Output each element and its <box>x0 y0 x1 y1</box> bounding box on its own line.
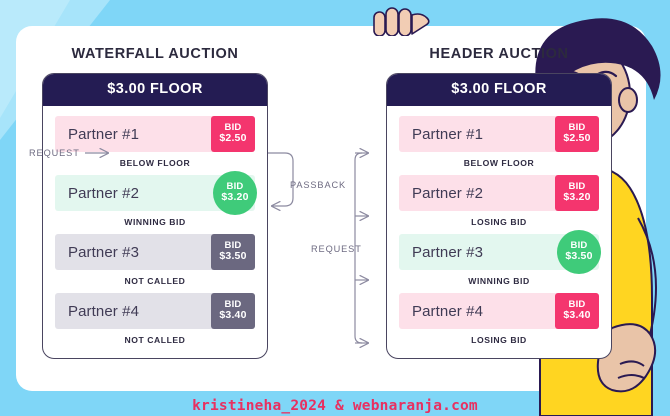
waterfall-auction-panel: WATERFALL AUCTION $3.00 FLOOR Partner #1… <box>42 46 268 359</box>
partner-name: Partner #4 <box>55 303 139 320</box>
bid-badge-amount: $3.40 <box>563 310 590 322</box>
header-floor-bar: $3.00 FLOOR <box>386 73 612 106</box>
bid-badge[interactable]: BID$3.20 <box>213 171 257 215</box>
partner-row[interactable]: Partner #3BID$3.50 <box>399 234 599 270</box>
partner-row[interactable]: Partner #4BID$3.40 <box>55 293 255 329</box>
bid-badge[interactable]: BID$3.50 <box>557 230 601 274</box>
partner-entry: Partner #3BID$3.50NOT CALLED <box>55 234 255 293</box>
partner-status-label: NOT CALLED <box>55 270 255 293</box>
partner-entry: Partner #1BID$2.50BELOW FLOOR <box>55 116 255 175</box>
watermark: kristineha_2024 & webnaranja.com <box>0 398 670 414</box>
partner-status-label: BELOW FLOOR <box>399 152 599 175</box>
partner-entry: Partner #1BID$2.50BELOW FLOOR <box>399 116 599 175</box>
header-auction-panel: HEADER AUCTION $3.00 FLOOR Partner #1BID… <box>386 46 612 359</box>
partner-name: Partner #3 <box>55 244 139 261</box>
header-rows: Partner #1BID$2.50BELOW FLOORPartner #2B… <box>387 106 611 358</box>
partner-row[interactable]: Partner #3BID$3.50 <box>55 234 255 270</box>
partner-status-label: WINNING BID <box>55 211 255 234</box>
bid-badge[interactable]: BID$3.40 <box>555 293 599 329</box>
partner-row[interactable]: Partner #1BID$2.50 <box>399 116 599 152</box>
partner-row[interactable]: Partner #2BID$3.20 <box>55 175 255 211</box>
partner-name: Partner #1 <box>55 126 139 143</box>
header-ladder: $3.00 FLOOR Partner #1BID$2.50BELOW FLOO… <box>386 73 612 359</box>
partner-name: Partner #4 <box>399 303 483 320</box>
bid-badge[interactable]: BID$2.50 <box>555 116 599 152</box>
partner-status-label: NOT CALLED <box>55 329 255 352</box>
partner-entry: Partner #4BID$3.40LOSING BID <box>399 293 599 352</box>
partner-name: Partner #2 <box>55 185 139 202</box>
partner-row[interactable]: Partner #1BID$2.50 <box>55 116 255 152</box>
bid-badge-amount: $3.20 <box>221 192 248 204</box>
diagram-canvas: WATERFALL AUCTION $3.00 FLOOR Partner #1… <box>0 0 670 416</box>
waterfall-floor-bar: $3.00 FLOOR <box>42 73 268 106</box>
partner-status-label: WINNING BID <box>399 270 599 293</box>
partner-status-label: LOSING BID <box>399 211 599 234</box>
waterfall-ladder: $3.00 FLOOR Partner #1BID$2.50BELOW FLOO… <box>42 73 268 359</box>
bid-badge[interactable]: BID$3.40 <box>211 293 255 329</box>
partner-row[interactable]: Partner #2BID$3.20 <box>399 175 599 211</box>
bid-badge[interactable]: BID$3.20 <box>555 175 599 211</box>
partner-status-label: LOSING BID <box>399 329 599 352</box>
partner-name: Partner #2 <box>399 185 483 202</box>
header-panel-title: HEADER AUCTION <box>386 46 612 62</box>
partner-name: Partner #3 <box>399 244 483 261</box>
partner-status-label: BELOW FLOOR <box>55 152 255 175</box>
bid-badge-amount: $3.40 <box>219 310 246 322</box>
partner-row[interactable]: Partner #4BID$3.40 <box>399 293 599 329</box>
partner-entry: Partner #2BID$3.20LOSING BID <box>399 175 599 234</box>
bid-badge-amount: $3.20 <box>563 192 590 204</box>
partner-entry: Partner #4BID$3.40NOT CALLED <box>55 293 255 352</box>
bid-badge[interactable]: BID$2.50 <box>211 116 255 152</box>
bid-badge-amount: $3.50 <box>565 251 592 263</box>
bid-badge[interactable]: BID$3.50 <box>211 234 255 270</box>
partner-entry: Partner #3BID$3.50WINNING BID <box>399 234 599 293</box>
partner-entry: Partner #2BID$3.20WINNING BID <box>55 175 255 234</box>
bid-badge-amount: $3.50 <box>219 251 246 263</box>
partner-name: Partner #1 <box>399 126 483 143</box>
hand-icon <box>371 6 441 36</box>
bid-badge-amount: $2.50 <box>563 133 590 145</box>
waterfall-panel-title: WATERFALL AUCTION <box>42 46 268 62</box>
waterfall-rows: Partner #1BID$2.50BELOW FLOORPartner #2B… <box>43 106 267 358</box>
bid-badge-amount: $2.50 <box>219 133 246 145</box>
